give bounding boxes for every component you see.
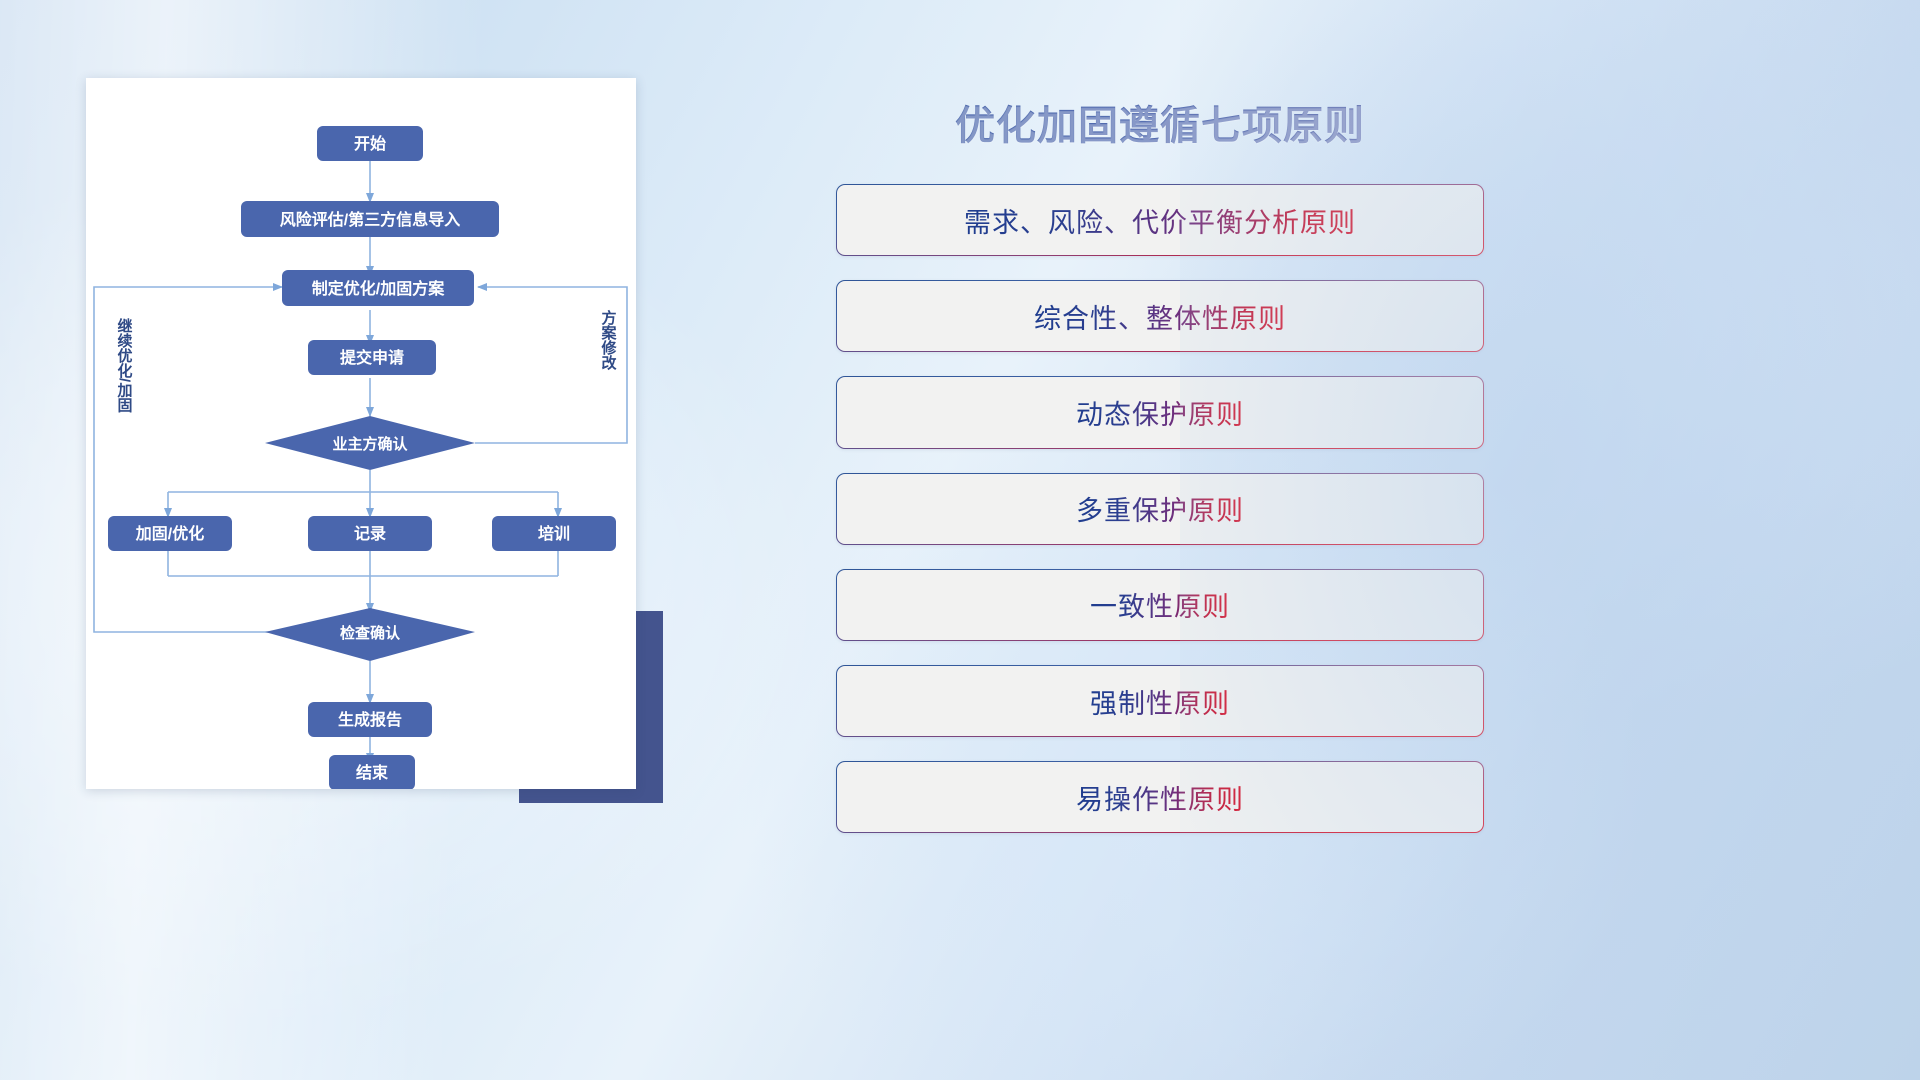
flow-node-label: 生成报告 (338, 710, 402, 729)
flow-node-reinforce: 加固/优化 (108, 516, 232, 551)
principle-label: 需求、风险、代价平衡分析原则 (964, 201, 1356, 240)
principle-label: 动态保护原则 (1076, 393, 1244, 432)
flow-node-label: 检查确认 (340, 624, 401, 642)
list-item[interactable]: 综合性、整体性原则 (836, 280, 1484, 352)
flow-node-label: 培训 (538, 524, 570, 543)
flow-node-record: 记录 (308, 516, 432, 551)
flow-node-label: 制定优化/加固方案 (312, 279, 445, 298)
flow-node-owner-confirm: 业主方确认 (265, 416, 475, 470)
principle-label: 综合性、整体性原则 (1034, 297, 1286, 336)
slide-canvas: 开始 风险评估/第三方信息导入 制定优化/加固方案 提交申请 业主方确认 (0, 0, 1920, 1080)
principle-label: 多重保护原则 (1076, 489, 1244, 528)
flow-node-report: 生成报告 (308, 702, 432, 737)
principle-label: 易操作性原则 (1076, 778, 1244, 817)
flow-node-training: 培训 (492, 516, 616, 551)
list-item[interactable]: 强制性原则 (836, 665, 1484, 737)
flow-node-label: 结束 (355, 763, 389, 782)
flowchart-diagram: 开始 风险评估/第三方信息导入 制定优化/加固方案 提交申请 业主方确认 (86, 78, 636, 789)
list-item[interactable]: 需求、风险、代价平衡分析原则 (836, 184, 1484, 256)
principle-label: 一致性原则 (1090, 585, 1230, 624)
flow-node-label: 加固/优化 (135, 524, 204, 543)
principles-panel: 优化加固遵循七项原则 需求、风险、代价平衡分析原则 综合性、整体性原则 动态保护… (836, 80, 1484, 810)
flow-node-plan: 制定优化/加固方案 (282, 270, 474, 306)
flow-node-submit: 提交申请 (308, 340, 436, 375)
flow-node-check-confirm: 检查确认 (265, 608, 475, 661)
flow-node-end: 结束 (329, 755, 415, 789)
flowchart-card: 开始 风险评估/第三方信息导入 制定优化/加固方案 提交申请 业主方确认 (86, 78, 636, 789)
flow-node-start: 开始 (317, 126, 423, 161)
flow-node-assess: 风险评估/第三方信息导入 (241, 201, 499, 237)
flow-node-label: 提交申请 (340, 348, 404, 367)
principles-list: 需求、风险、代价平衡分析原则 综合性、整体性原则 动态保护原则 多重保护原则 一… (836, 184, 1484, 857)
list-item[interactable]: 一致性原则 (836, 569, 1484, 641)
flow-node-label: 风险评估/第三方信息导入 (280, 210, 460, 229)
flow-edge-label-text: 继续优化/加固 (116, 317, 134, 413)
list-item[interactable]: 易操作性原则 (836, 761, 1484, 833)
flow-node-label: 记录 (354, 525, 386, 543)
page-title: 优化加固遵循七项原则 (836, 93, 1484, 151)
flow-node-label: 业主方确认 (332, 435, 408, 453)
flow-edge-label-plan-revision: 方案修改 (600, 309, 618, 371)
flow-edge-label-continue-optimize: 继续优化/加固 (116, 317, 134, 413)
list-item[interactable]: 多重保护原则 (836, 473, 1484, 545)
principle-label: 强制性原则 (1090, 682, 1230, 721)
flow-node-label: 开始 (354, 134, 386, 153)
list-item[interactable]: 动态保护原则 (836, 376, 1484, 448)
flow-edge-label-text: 方案修改 (600, 309, 618, 371)
